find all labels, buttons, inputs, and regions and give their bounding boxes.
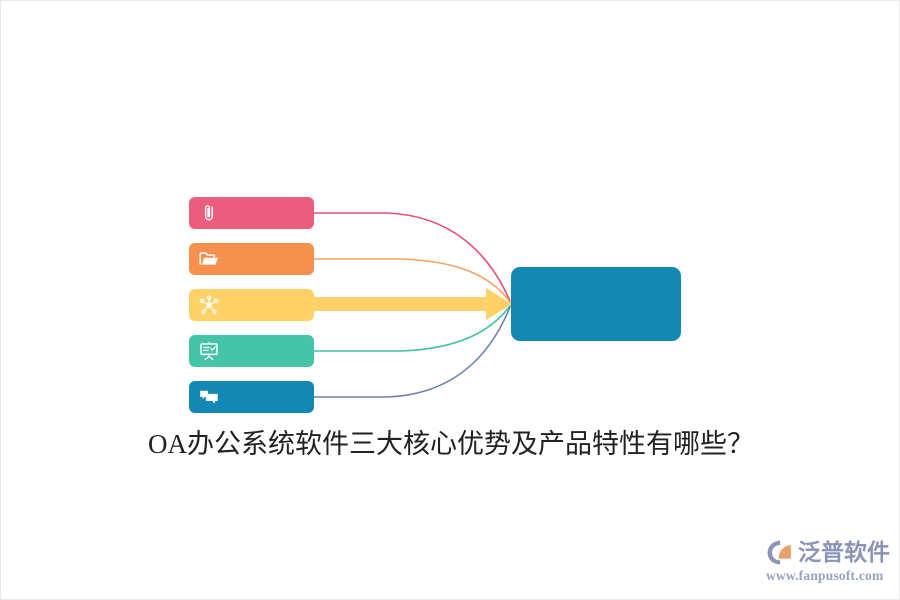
network-hub-icon: [198, 294, 220, 316]
brand-url: www.fanpusoft.com: [766, 568, 896, 584]
diagram-item-3[interactable]: [189, 289, 314, 321]
hub-node[interactable]: [511, 267, 681, 341]
diagram-item-5[interactable]: [189, 381, 314, 413]
brand-watermark: 泛普软件 www.fanpusoft.com: [766, 537, 896, 589]
connector-arrow-3: [314, 288, 512, 320]
paperclip-icon: [198, 202, 220, 224]
connector-curve-5: [314, 307, 510, 397]
fanpu-logo-icon: [766, 539, 795, 566]
diagram-item-1[interactable]: [189, 197, 314, 229]
diagram-item-2[interactable]: [189, 243, 314, 275]
connector-curve-2: [314, 259, 510, 302]
brand-name: 泛普软件: [798, 539, 890, 566]
open-folder-icon: [198, 248, 220, 270]
connector-curve-4: [314, 306, 510, 351]
chat-bubbles-icon: [198, 386, 220, 408]
connector-curve-1: [314, 213, 510, 301]
screenshot-canvas: OA办公系统软件三大核心优势及产品特性有哪些？ 泛普软件 www.fanpuso…: [0, 0, 900, 600]
presentation-board-icon: [198, 340, 220, 362]
page-title: OA办公系统软件三大核心优势及产品特性有哪些？: [1, 424, 900, 464]
diagram-item-4[interactable]: [189, 335, 314, 367]
brand-row: 泛普软件: [766, 537, 896, 567]
connector-lines: [1, 1, 900, 600]
converging-arrow-diagram: [1, 1, 900, 600]
